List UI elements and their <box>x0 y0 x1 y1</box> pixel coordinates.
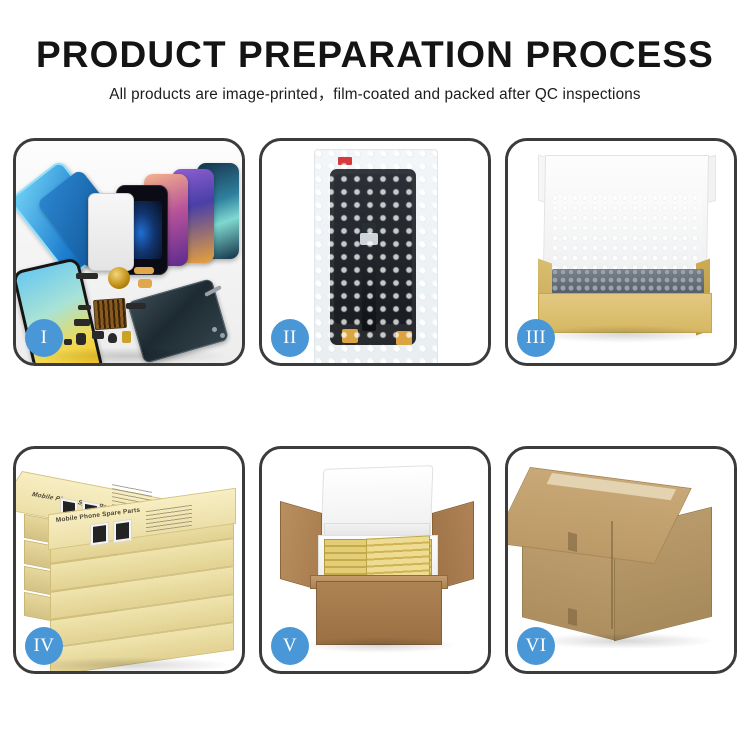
step-panel-6: VI <box>505 446 737 674</box>
screen-protector-glass <box>88 193 134 271</box>
lcd-driver-ic <box>360 233 378 245</box>
product-preparation-infographic: PRODUCT PREPARATION PROCESS All products… <box>0 0 750 750</box>
camera-part <box>92 331 104 339</box>
screw-part <box>220 333 225 338</box>
step-panel-3: III <box>505 138 737 366</box>
process-steps-grid: I II <box>13 138 737 674</box>
carton-seam-tab <box>568 532 577 552</box>
small-ic-part <box>64 339 72 345</box>
step-badge-3: III <box>517 319 555 357</box>
step-badge-4: IV <box>25 627 63 665</box>
carton-front-face <box>316 581 442 645</box>
small-ic-part <box>74 319 90 326</box>
connector-part <box>76 273 98 279</box>
step-badge-6: VI <box>517 627 555 665</box>
page-title: PRODUCT PREPARATION PROCESS <box>0 32 750 78</box>
flex-cable-part <box>138 279 152 288</box>
speaker-part <box>108 333 117 343</box>
box-print-thumbnail <box>113 519 132 544</box>
carton-corner-edge <box>611 521 613 629</box>
lcd-connector-right <box>396 331 412 345</box>
foam-sheet <box>552 195 702 269</box>
step-panel-5: V <box>259 446 491 674</box>
chip-grid-part <box>93 298 127 330</box>
screw-part <box>212 327 217 332</box>
flex-strip-part <box>126 303 146 309</box>
qc-red-label <box>338 157 352 165</box>
button-part <box>76 333 86 345</box>
copper-coil-part <box>108 267 130 289</box>
step-panel-2: II <box>259 138 491 366</box>
flex-cable-part <box>134 267 154 274</box>
carton-seam-tab <box>568 608 577 626</box>
lcd-connector-left <box>342 329 358 343</box>
page-subtitle: All products are image-printed，film-coat… <box>0 85 750 105</box>
small-ic-part <box>78 305 91 310</box>
step-badge-2: II <box>271 319 309 357</box>
step-panel-1: I <box>13 138 245 366</box>
step-badge-5: V <box>271 627 309 665</box>
step-panel-4: Mobile Phone Spare Parts Mobile Phone Sp… <box>13 446 245 674</box>
header: PRODUCT PREPARATION PROCESS All products… <box>0 32 750 105</box>
box-print-thumbnail <box>90 522 109 547</box>
step-badge-1: I <box>25 319 63 357</box>
gold-connector-part <box>122 331 131 343</box>
